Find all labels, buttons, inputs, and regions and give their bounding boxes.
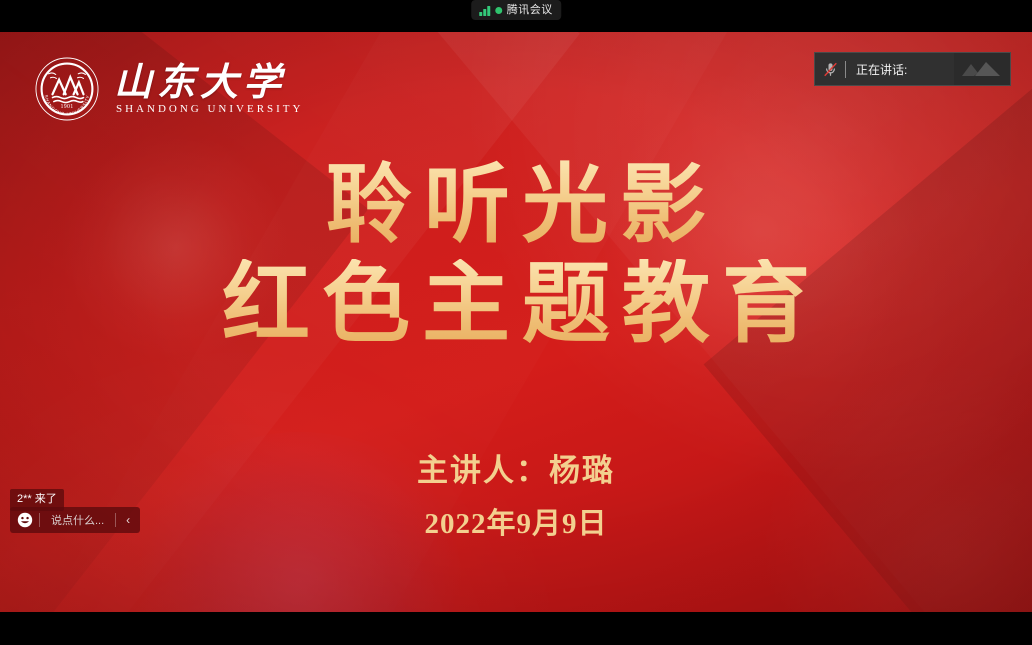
slide-subtitle-block: 主讲人：杨璐 2022年9月9日 (0, 452, 1032, 542)
microphone-muted-icon[interactable] (815, 61, 845, 78)
slide-title-line-1: 聆听光影 (0, 160, 1032, 251)
shandong-university-seal-icon: 1901 SHANDONG UNIVERSITY (34, 56, 100, 122)
window-bottom-bar (0, 612, 1032, 645)
slide-presenter: 主讲人：杨璐 (0, 452, 1032, 489)
meeting-screen: 1901 SHANDONG UNIVERSITY 山东大学 SHANDONG U… (0, 0, 1032, 645)
signal-bars-icon (479, 5, 490, 16)
meeting-app-name: 腾讯会议 (507, 5, 553, 16)
seal-year-text: 1901 (61, 104, 74, 110)
slide-title-line-2: 红色主题教育 (0, 259, 1032, 352)
video-off-avatar-placeholder[interactable] (954, 53, 1010, 85)
chat-input-bar[interactable]: 说点什么... ‹ (10, 507, 140, 533)
chevron-left-icon[interactable]: ‹ (116, 513, 140, 527)
meeting-status-badge[interactable]: 腾讯会议 (471, 0, 561, 20)
smiley-face-icon[interactable] (10, 512, 39, 528)
slide-date: 2022年9月9日 (0, 507, 1032, 542)
active-speaker-panel[interactable]: 正在讲话: (814, 52, 1011, 86)
active-speaker-label: 正在讲话: (856, 61, 954, 78)
logo-name-cn: 山东大学 (114, 64, 303, 102)
slide-title-block: 聆听光影 红色主题教育 (0, 160, 1032, 352)
speaker-panel-divider (845, 61, 846, 78)
shared-screen-slide: 1901 SHANDONG UNIVERSITY 山东大学 SHANDONG U… (0, 32, 1032, 612)
logo-wordmark: 山东大学 SHANDONG UNIVERSITY (114, 64, 303, 115)
university-logo: 1901 SHANDONG UNIVERSITY 山东大学 SHANDONG U… (34, 56, 303, 122)
window-top-bar: 腾讯会议 (0, 0, 1032, 32)
green-status-dot (495, 7, 502, 14)
logo-name-en: SHANDONG UNIVERSITY (114, 104, 303, 115)
chat-input-field[interactable]: 说点什么... (40, 512, 115, 528)
